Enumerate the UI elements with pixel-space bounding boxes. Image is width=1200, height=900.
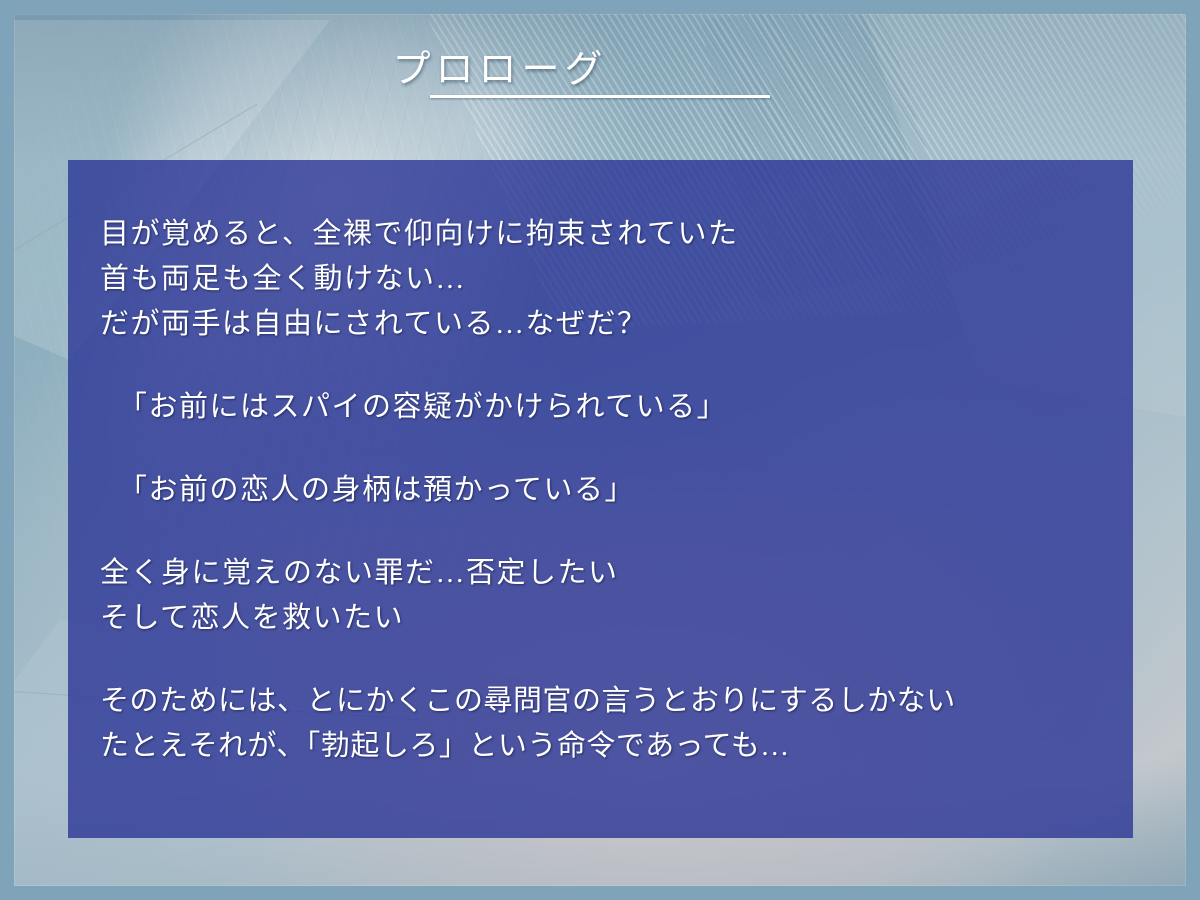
- title-underline: [430, 95, 770, 98]
- prologue-slide: プロローグ ペニスは 嘘発見器!? 目が覚めると、全裸で仰向けに拘束されていた …: [0, 0, 1200, 900]
- story-text-panel: 目が覚めると、全裸で仰向けに拘束されていた 首も両足も全く動けない… だが両手は…: [68, 160, 1133, 838]
- para-opening: 目が覚めると、全裸で仰向けに拘束されていた 首も両足も全く動けない… だが両手は…: [100, 212, 1133, 347]
- para-deny: 全く身に覚えのない罪だ…否定したい そして恋人を救いたい: [100, 551, 1133, 641]
- para-quote-lover: 「お前の恋人の身柄は預かっている」: [100, 468, 1133, 513]
- para-obey: そのためには、とにかくこの尋問官の言うとおりにするしかない たとえそれが、「勃起…: [100, 679, 1133, 769]
- story-text-body: 目が覚めると、全裸で仰向けに拘束されていた 首も両足も全く動けない… だが両手は…: [100, 212, 1133, 769]
- page-title: プロローグ: [392, 38, 607, 93]
- para-quote-spy: 「お前にはスパイの容疑がかけられている」: [100, 385, 1133, 430]
